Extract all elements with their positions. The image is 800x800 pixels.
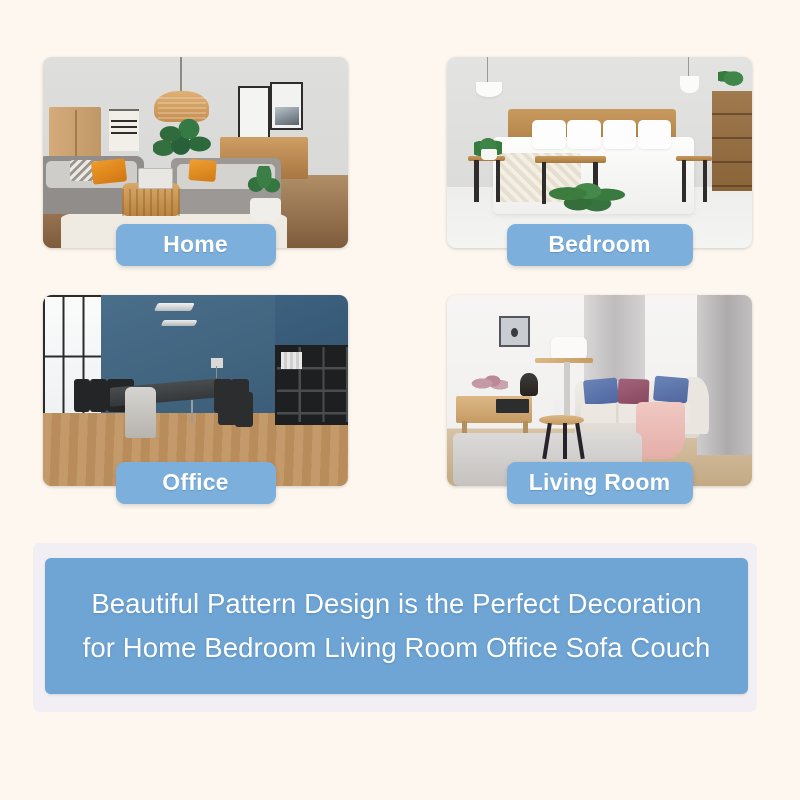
tagline-banner: Beautiful Pattern Design is the Perfect … [45,558,748,694]
tagline-line-2: for Home Bedroom Living Room Office Sofa… [83,626,711,670]
scene-living-room-two-sofas [43,57,348,248]
gallery-card-office[interactable]: Office [43,295,348,486]
gallery-card-home[interactable]: Home [43,57,348,248]
gallery-card-bedroom[interactable]: Bedroom [447,57,752,248]
room-photo-home [43,57,348,248]
room-photo-office [43,295,348,486]
room-photo-bedroom [447,57,752,248]
room-label-home[interactable]: Home [116,224,276,266]
tagline-line-1: Beautiful Pattern Design is the Perfect … [91,582,701,626]
tagline-banner-frame: Beautiful Pattern Design is the Perfect … [33,543,757,712]
room-gallery: Home Bedroom [43,57,753,498]
scene-living-room-pink-throw [447,295,752,486]
scene-bedroom [447,57,752,248]
room-label-office[interactable]: Office [116,462,276,504]
gallery-card-living-room[interactable]: Living Room [447,295,752,486]
room-photo-living-room [447,295,752,486]
room-label-bedroom[interactable]: Bedroom [507,224,693,266]
room-label-living-room[interactable]: Living Room [507,462,693,504]
scene-office-conference-room [43,295,348,486]
